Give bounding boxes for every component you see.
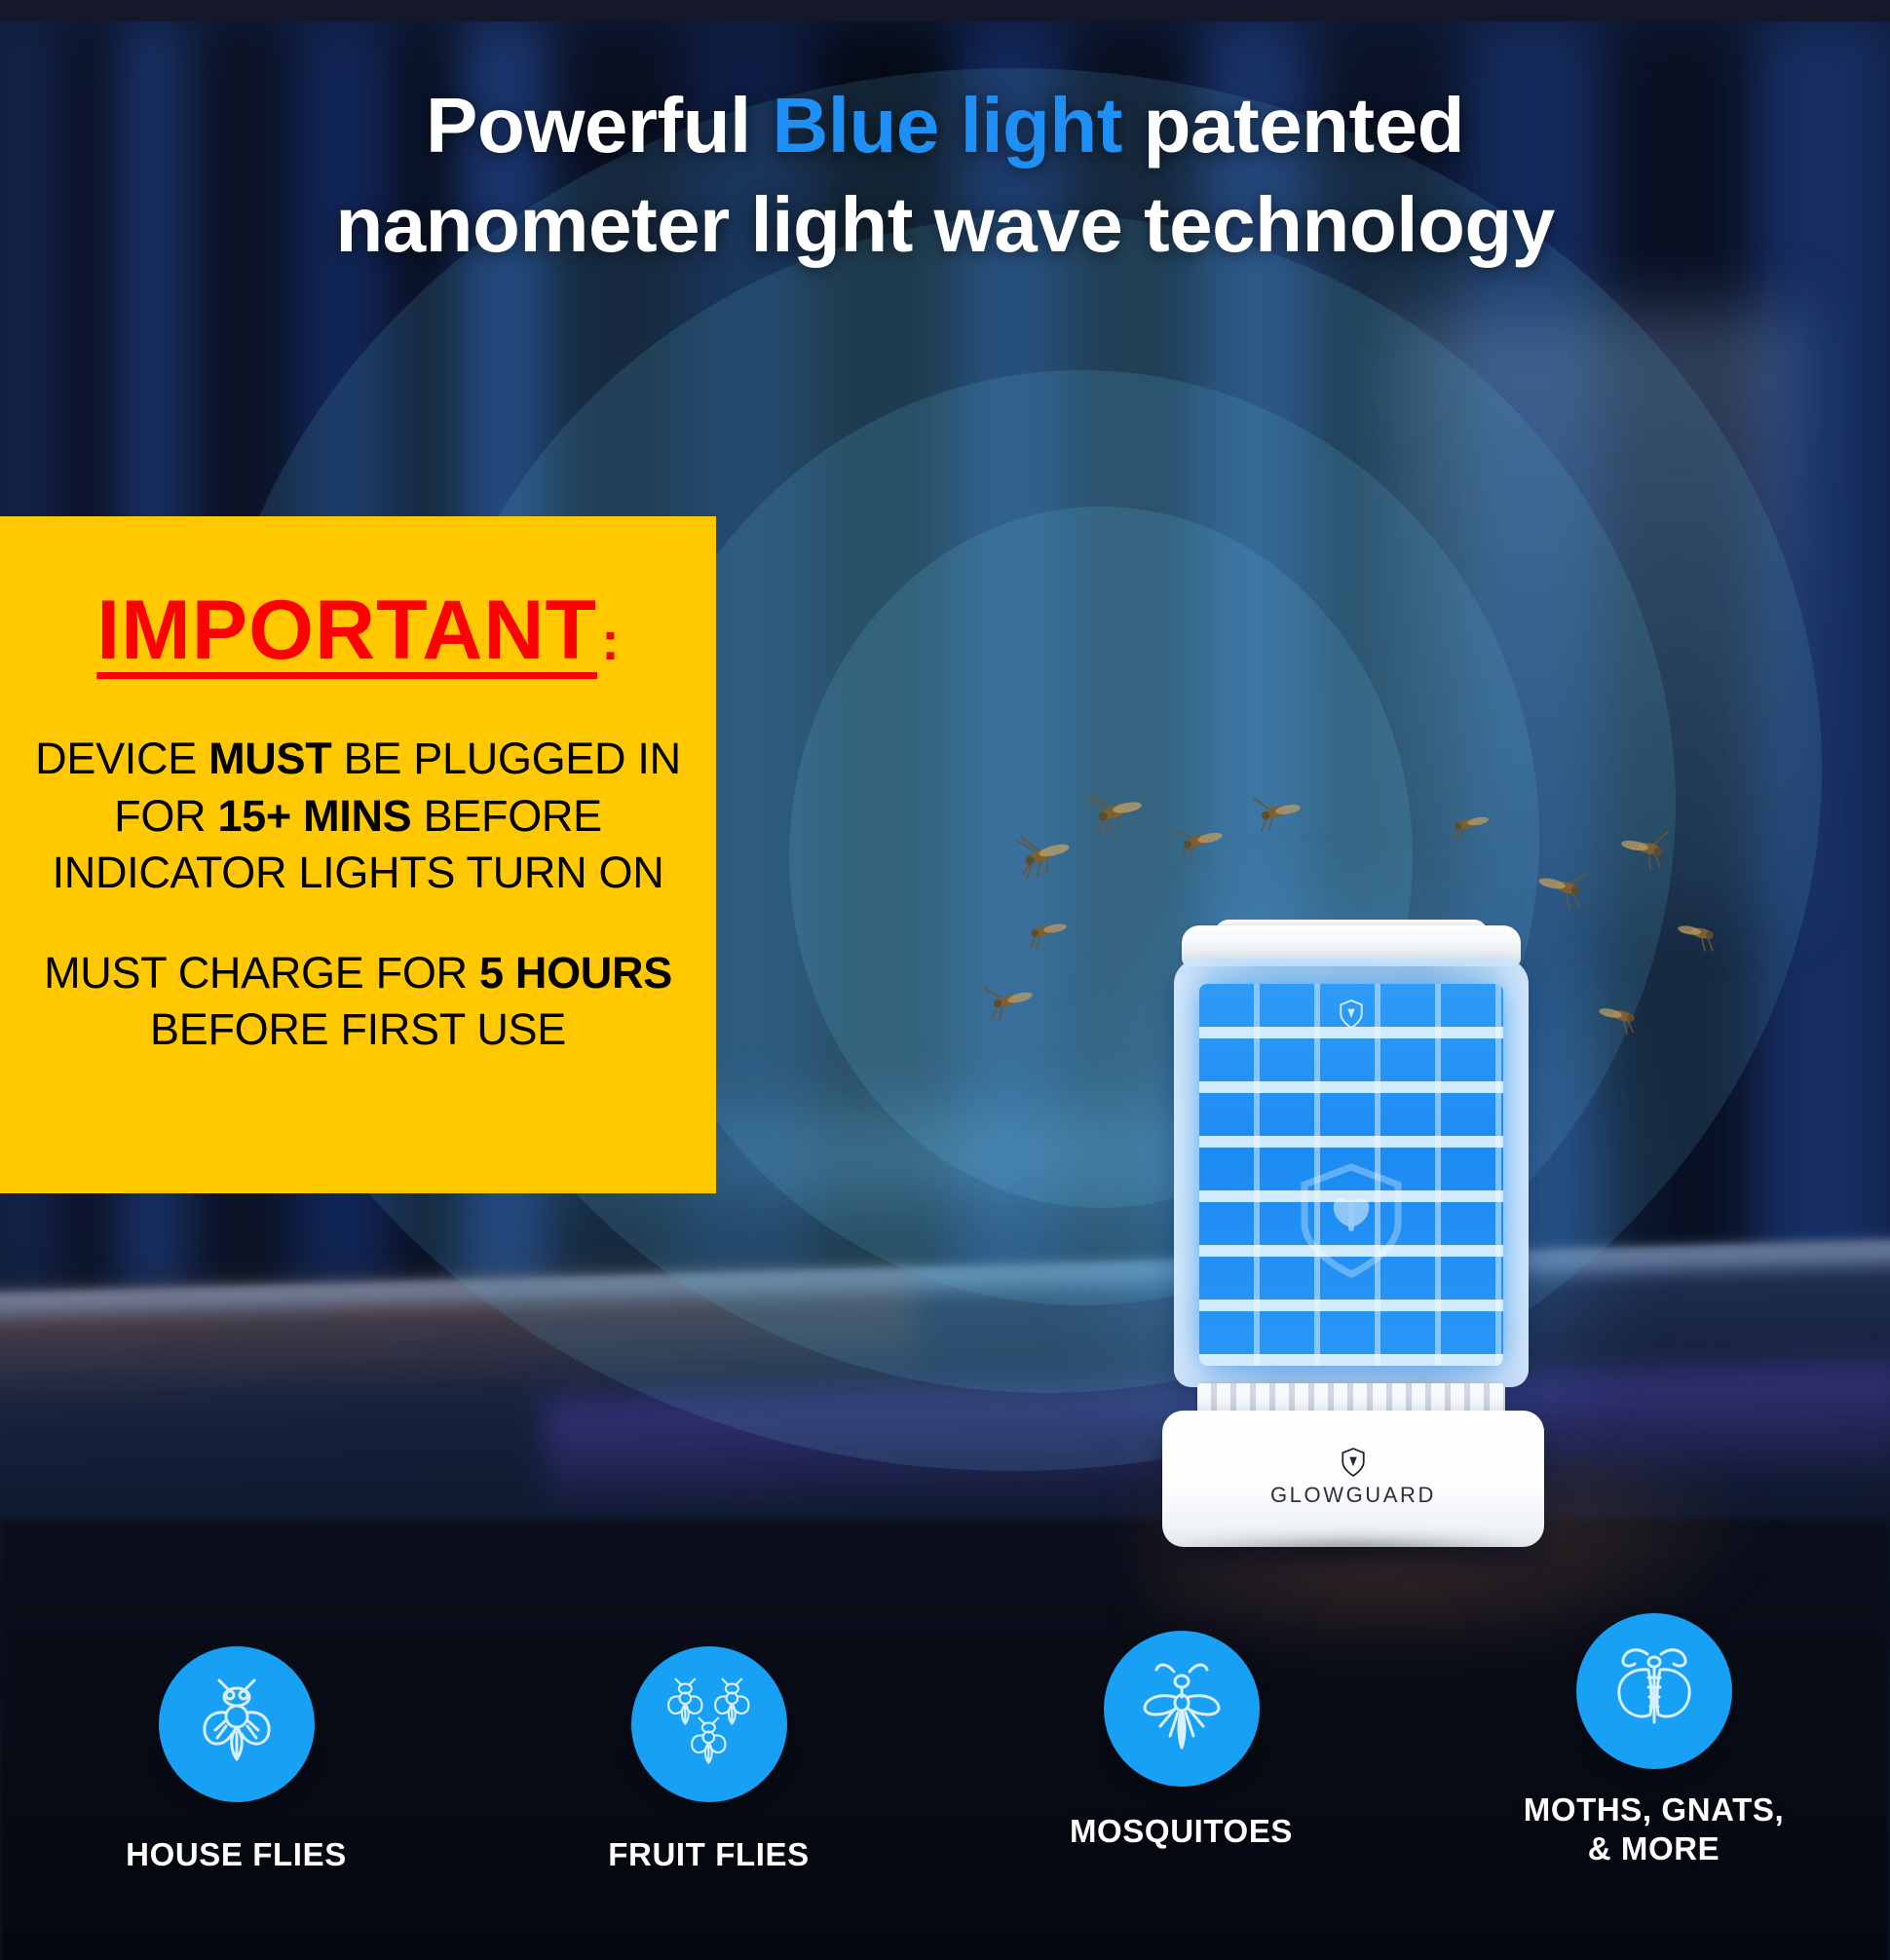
device-shadow bbox=[1145, 1537, 1564, 1563]
imp-p2-bold1: 5 HOURS bbox=[479, 948, 672, 998]
pest-circle-mosquitoes bbox=[1104, 1631, 1260, 1787]
top-dark-bar bbox=[0, 0, 1890, 21]
mosquito-decor-8 bbox=[1598, 818, 1682, 883]
mosquito-decor-11 bbox=[1437, 799, 1505, 851]
house-fly-icon bbox=[186, 1674, 287, 1775]
imp-p1-bold1: MUST bbox=[208, 734, 331, 783]
imp-p2-seg2: BEFORE FIRST USE bbox=[150, 1004, 566, 1054]
pest-item-mosquitoes: MOSQUITOES bbox=[945, 1646, 1417, 1939]
important-title: IMPORTANT bbox=[96, 588, 597, 672]
pest-item-moths: MOTHS, GNATS,& MORE bbox=[1417, 1646, 1890, 1939]
mosquito-decor-4 bbox=[1242, 784, 1320, 845]
pest-circle-fruit-flies bbox=[631, 1646, 787, 1802]
pest-label-moths: MOTHS, GNATS,& MORE bbox=[1524, 1790, 1785, 1869]
pest-circle-moths bbox=[1576, 1613, 1732, 1769]
pest-label-mosquitoes: MOSQUITOES bbox=[1070, 1812, 1293, 1851]
pest-label-fruit-flies: FRUIT FLIES bbox=[608, 1835, 809, 1874]
device-base: GLOWGUARD bbox=[1162, 1411, 1544, 1547]
device-uv-grid bbox=[1199, 984, 1503, 1366]
mosquito-decor-7 bbox=[1515, 857, 1599, 922]
important-paragraph-1: DEVICE MUST BE PLUGGED IN FOR 15+ MINS B… bbox=[29, 731, 687, 902]
important-notice-card: IMPORTANT: DEVICE MUST BE PLUGGED IN FOR… bbox=[0, 516, 716, 1193]
brand-shield-icon bbox=[1341, 1448, 1366, 1477]
device-brand-name: GLOWGUARD bbox=[1162, 1483, 1544, 1508]
pest-item-fruit-flies: FRUIT FLIES bbox=[472, 1646, 945, 1939]
mosquito-decor-9 bbox=[1656, 906, 1732, 964]
pest-circle-house-flies bbox=[159, 1646, 315, 1802]
mosquito-decor-6 bbox=[1013, 906, 1083, 961]
imp-p1-bold2: 15+ MINS bbox=[217, 791, 411, 841]
moth-icon bbox=[1604, 1640, 1705, 1742]
device-housing bbox=[1174, 959, 1529, 1387]
shield-icon bbox=[1339, 999, 1364, 1029]
headline: Powerful Blue light patented nanometer l… bbox=[0, 76, 1890, 276]
moth-emblem-icon bbox=[1293, 1155, 1410, 1282]
important-title-row: IMPORTANT: bbox=[29, 588, 687, 672]
pest-item-house-flies: HOUSE FLIES bbox=[0, 1646, 472, 1939]
mosquito-decor-10 bbox=[1578, 989, 1652, 1045]
imp-p1-seg1: DEVICE bbox=[35, 734, 208, 783]
product-device: GLOWGUARD bbox=[1154, 925, 1554, 1588]
pest-type-row: HOUSE FLIES bbox=[0, 1646, 1890, 1939]
product-infographic: Powerful Blue light patented nanometer l… bbox=[0, 0, 1890, 1960]
important-title-colon: : bbox=[601, 614, 620, 672]
headline-line2: nanometer light wave technology bbox=[335, 181, 1554, 268]
headline-highlight: Blue light bbox=[773, 82, 1122, 169]
imp-p2-seg1: MUST CHARGE FOR bbox=[44, 948, 479, 998]
mosquito-decor-2 bbox=[1077, 779, 1164, 848]
mosquito-decor-5 bbox=[974, 974, 1050, 1033]
headline-part2: patented bbox=[1122, 82, 1464, 169]
pest-label-house-flies: HOUSE FLIES bbox=[126, 1835, 347, 1874]
mosquito-icon bbox=[1131, 1658, 1232, 1759]
headline-part1: Powerful bbox=[426, 82, 773, 169]
mosquito-decor-3 bbox=[1164, 813, 1242, 874]
fruit-flies-icon bbox=[657, 1672, 762, 1777]
important-paragraph-2: MUST CHARGE FOR 5 HOURS BEFORE FIRST USE bbox=[29, 945, 687, 1059]
